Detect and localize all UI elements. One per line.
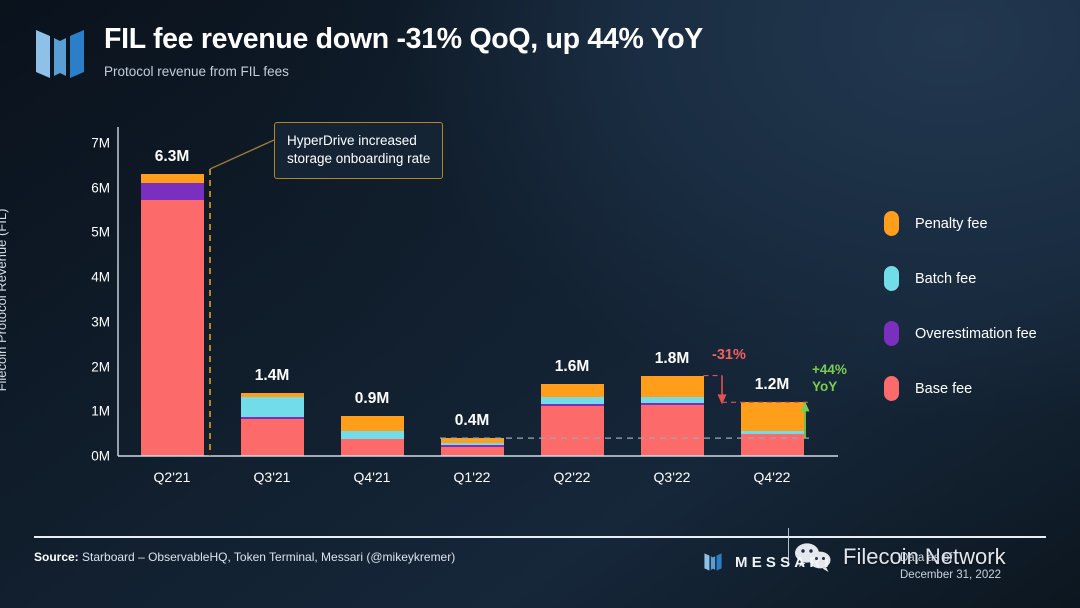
bar-segment[interactable] xyxy=(541,406,604,456)
source-label: Source: xyxy=(34,550,79,564)
bar-segment[interactable] xyxy=(241,397,304,417)
bar-total-label: 1.8M xyxy=(655,350,689,368)
bar-segment[interactable] xyxy=(341,431,404,440)
y-axis-tick: 5M xyxy=(66,225,110,240)
bar-segment[interactable] xyxy=(641,376,704,398)
callout-line-1: HyperDrive increased xyxy=(287,132,430,150)
watermark-tick xyxy=(788,528,789,562)
asof-line-1: Data as of xyxy=(900,550,1001,567)
bar-segment[interactable] xyxy=(541,404,604,406)
y-axis-tick: 3M xyxy=(66,314,110,329)
legend-swatch-penalty xyxy=(884,211,899,236)
y-axis-tick: 4M xyxy=(66,270,110,285)
bar-segment[interactable] xyxy=(741,402,804,431)
yoy-period: YoY xyxy=(812,379,847,396)
y-axis-ticks: 0M1M2M3M4M5M6M7M xyxy=(66,0,110,608)
wechat-icon xyxy=(792,542,836,572)
y-axis-title: Filecoin Protocol Revenue (FIL) xyxy=(0,209,9,392)
y-axis-tick: 0M xyxy=(66,449,110,464)
bar-segment[interactable] xyxy=(241,417,304,419)
page-title: FIL fee revenue down -31% QoQ, up 44% Yo… xyxy=(104,24,703,55)
bar-total-label: 0.4M xyxy=(455,412,489,430)
x-axis-tick: Q1'22 xyxy=(454,469,491,485)
bar-segment[interactable] xyxy=(141,174,204,183)
qoq-change-label: -31% xyxy=(712,347,746,363)
bar-segment[interactable] xyxy=(141,200,204,456)
bar-segment[interactable] xyxy=(541,384,604,396)
hyperdrive-callout: HyperDrive increased storage onboarding … xyxy=(274,122,443,179)
bar-segment[interactable] xyxy=(441,446,504,456)
bar-segment[interactable] xyxy=(241,393,304,397)
bar-total-label: 0.9M xyxy=(355,390,389,408)
bar-segment[interactable] xyxy=(641,397,704,403)
legend-item[interactable]: Overestimation fee xyxy=(884,306,1037,361)
chart-legend: Penalty feeBatch feeOverestimation feeBa… xyxy=(884,196,1037,416)
x-axis-tick: Q4'22 xyxy=(754,469,791,485)
legend-item[interactable]: Base fee xyxy=(884,361,1037,416)
bar-segment[interactable] xyxy=(141,183,204,200)
legend-item[interactable]: Penalty fee xyxy=(884,196,1037,251)
x-axis-tick: Q3'21 xyxy=(254,469,291,485)
legend-swatch-base xyxy=(884,376,899,401)
bar-segment[interactable] xyxy=(741,431,804,434)
yoy-change-label: +44% YoY xyxy=(812,362,847,396)
bar-total-label: 1.6M xyxy=(555,358,589,376)
messari-m-logo-icon xyxy=(700,552,726,572)
legend-item-label: Batch fee xyxy=(915,271,976,287)
legend-item-label: Penalty fee xyxy=(915,216,988,232)
source-note: Source: Starboard – ObservableHQ, Token … xyxy=(34,550,455,564)
bar-total-label: 6.3M xyxy=(155,148,189,166)
yoy-arrow-head xyxy=(801,401,810,411)
chart-header: FIL fee revenue down -31% QoQ, up 44% Yo… xyxy=(34,22,703,82)
bar-segment[interactable] xyxy=(241,418,304,456)
y-axis-tick: 7M xyxy=(66,136,110,151)
bar-segment[interactable] xyxy=(341,439,404,456)
y-axis-tick: 1M xyxy=(66,404,110,419)
legend-swatch-batch xyxy=(884,266,899,291)
x-axis-tick: Q3'22 xyxy=(654,469,691,485)
qoq-arrow-head xyxy=(718,394,727,404)
y-axis-tick: 6M xyxy=(66,180,110,195)
event-marker-leader xyxy=(210,140,274,169)
x-axis-tick: Q4'21 xyxy=(354,469,391,485)
callout-line-2: storage onboarding rate xyxy=(287,150,430,168)
bar-segment[interactable] xyxy=(641,405,704,456)
bar-segment[interactable] xyxy=(541,397,604,405)
x-axis-tick: Q2'21 xyxy=(154,469,191,485)
page-subtitle: Protocol revenue from FIL fees xyxy=(104,64,703,79)
asof-line-2: December 31, 2022 xyxy=(900,567,1001,584)
y-axis-tick: 2M xyxy=(66,359,110,374)
bar-segment[interactable] xyxy=(741,434,804,456)
bar-segment[interactable] xyxy=(641,403,704,405)
bar-total-label: 1.4M xyxy=(255,367,289,385)
legend-item-label: Overestimation fee xyxy=(915,326,1037,342)
source-text: Starboard – ObservableHQ, Token Terminal… xyxy=(82,550,455,564)
legend-item[interactable]: Batch fee xyxy=(884,251,1037,306)
legend-item-label: Base fee xyxy=(915,381,972,397)
bar-total-label: 1.2M xyxy=(755,376,789,394)
bar-segment[interactable] xyxy=(441,445,504,447)
bar-segment[interactable] xyxy=(441,438,504,443)
legend-swatch-overestimation xyxy=(884,321,899,346)
x-axis-tick: Q2'22 xyxy=(554,469,591,485)
messari-m-logo-icon xyxy=(34,26,86,82)
data-asof: Data as of December 31, 2022 xyxy=(900,550,1001,583)
bar-segment[interactable] xyxy=(341,416,404,431)
yoy-value: +44% xyxy=(812,362,847,379)
bar-segment[interactable] xyxy=(441,443,504,445)
footer-divider xyxy=(34,536,1046,538)
